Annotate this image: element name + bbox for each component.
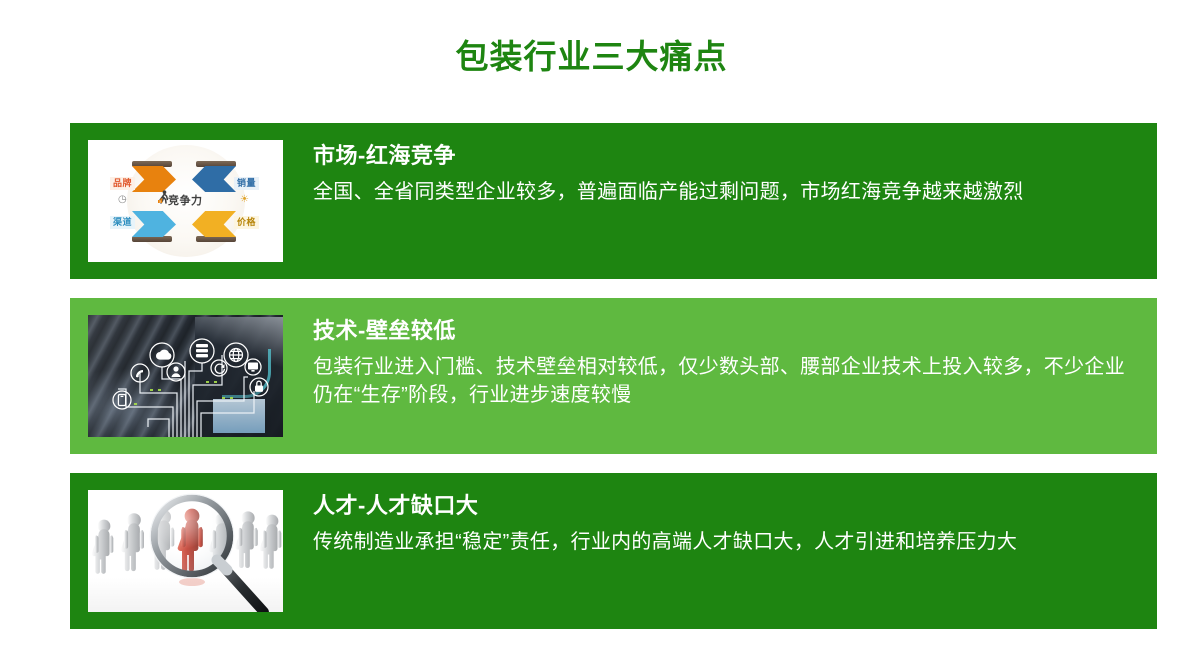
card-thumbnail-competitiveness: 品牌 销量 渠道 价格 ◷ ☀ 竞争力 (88, 140, 283, 262)
card-text-technology: 包装行业进入门槛、技术壁垒相对较低，仅少数头部、腰部企业技术上投入较多，不少企业… (313, 353, 1141, 410)
pain-point-card-talent[interactable]: 人才-人才缺口大 传统制造业承担“稳定”责任，行业内的高端人才缺口大，人才引进和… (70, 473, 1157, 629)
crowd-illustration (88, 490, 283, 612)
magnifier-crowd-image (88, 490, 283, 612)
diagram-arm-price (192, 211, 236, 237)
diagram-label-channel: 渠道 (110, 216, 135, 229)
clock-icon: ◷ (118, 194, 127, 205)
card-body-market: 市场-红海竞争 全国、全省同类型企业较多，普遍面临产能过剩问题，市场红海竞争越来… (283, 140, 1141, 206)
card-body-technology: 技术-壁垒较低 包装行业进入门槛、技术壁垒相对较低，仅少数头部、腰部企业技术上投… (283, 315, 1141, 409)
pain-point-card-technology[interactable]: 技术-壁垒较低 包装行业进入门槛、技术壁垒相对较低，仅少数头部、腰部企业技术上投… (70, 298, 1157, 454)
bulb-icon: ☀ (240, 194, 249, 205)
diagram-arm-channel (132, 211, 176, 237)
diagram-label-sales: 销量 (234, 177, 259, 190)
diagram-label-price: 价格 (234, 216, 259, 229)
diagram-arm-sales (192, 166, 236, 192)
slide-root: 包装行业三大痛点 品牌 销量 渠道 价格 (0, 0, 1183, 647)
card-heading-technology: 技术-壁垒较低 (313, 317, 1141, 345)
page-title: 包装行业三大痛点 (0, 30, 1183, 78)
card-text-talent: 传统制造业承担“稳定”责任，行业内的高端人才缺口大，人才引进和培养压力大 (313, 528, 1141, 556)
competitiveness-x-diagram: 品牌 销量 渠道 价格 ◷ ☀ 竞争力 (88, 140, 283, 262)
circuit-tree-image (88, 315, 283, 437)
card-text-market: 全国、全省同类型企业较多，普遍面临产能过剩问题，市场红海竞争越来越激烈 (313, 178, 1141, 206)
card-thumbnail-talent (88, 490, 283, 612)
pain-point-card-list: 品牌 销量 渠道 价格 ◷ ☀ 竞争力 市场-红海竞争 (70, 123, 1157, 648)
diagram-arm-brand (132, 166, 176, 192)
card-heading-talent: 人才-人才缺口大 (313, 492, 1141, 520)
circuit-overlay (88, 315, 283, 437)
card-body-talent: 人才-人才缺口大 传统制造业承担“稳定”责任，行业内的高端人才缺口大，人才引进和… (283, 490, 1141, 556)
pain-point-card-market[interactable]: 品牌 销量 渠道 价格 ◷ ☀ 竞争力 市场-红海竞争 (70, 123, 1157, 279)
diagram-center-label: 竞争力 (168, 192, 203, 208)
card-thumbnail-technology (88, 315, 283, 437)
card-heading-market: 市场-红海竞争 (313, 142, 1141, 170)
diagram-label-brand: 品牌 (110, 177, 135, 190)
